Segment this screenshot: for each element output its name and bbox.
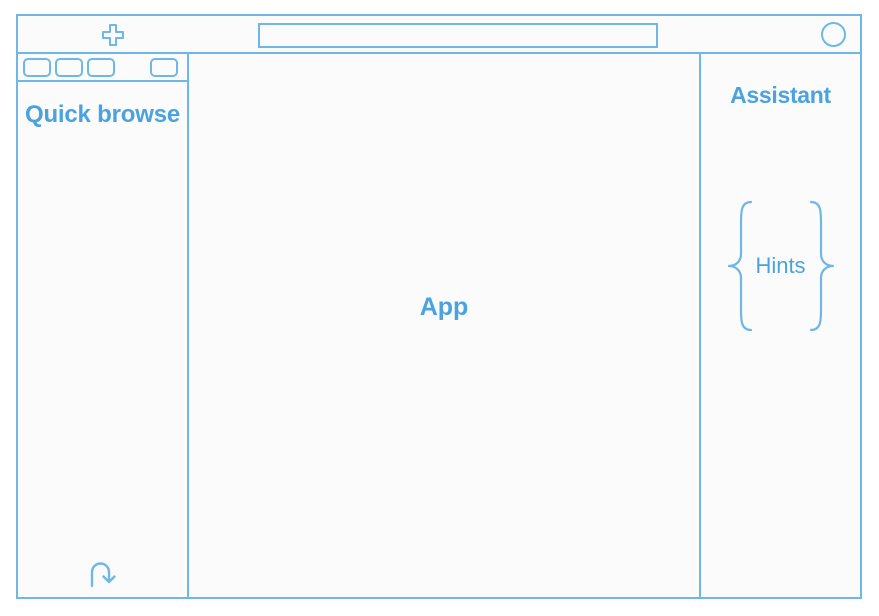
sidebar-item-tab-close[interactable] [150, 58, 178, 77]
quick-browse-sidebar: Quick browse [18, 54, 189, 597]
sidebar-item-tab-1[interactable] [23, 58, 51, 77]
sidebar-tabbar [18, 54, 187, 82]
u-turn-arrow-icon[interactable] [18, 559, 187, 589]
hints-label: Hints [755, 253, 805, 279]
sidebar-item-tab-3[interactable] [87, 58, 115, 77]
browser-titlebar [18, 16, 860, 54]
circle-avatar-icon[interactable] [821, 22, 846, 47]
hints-block: Hints [701, 196, 860, 336]
wireframe-window: Quick browse App Assistant [16, 14, 862, 599]
plus-icon[interactable] [98, 20, 128, 50]
window-body: Quick browse App Assistant [18, 54, 860, 597]
assistant-title: Assistant [701, 82, 860, 109]
address-bar-input[interactable] [258, 23, 658, 48]
sidebar-content: Quick browse [18, 82, 187, 597]
quick-browse-title: Quick browse [18, 100, 187, 131]
app-label: App [420, 293, 469, 322]
app-stage: App [189, 54, 701, 597]
assistant-panel: Assistant Hints [701, 54, 860, 597]
sidebar-item-tab-2[interactable] [55, 58, 83, 77]
